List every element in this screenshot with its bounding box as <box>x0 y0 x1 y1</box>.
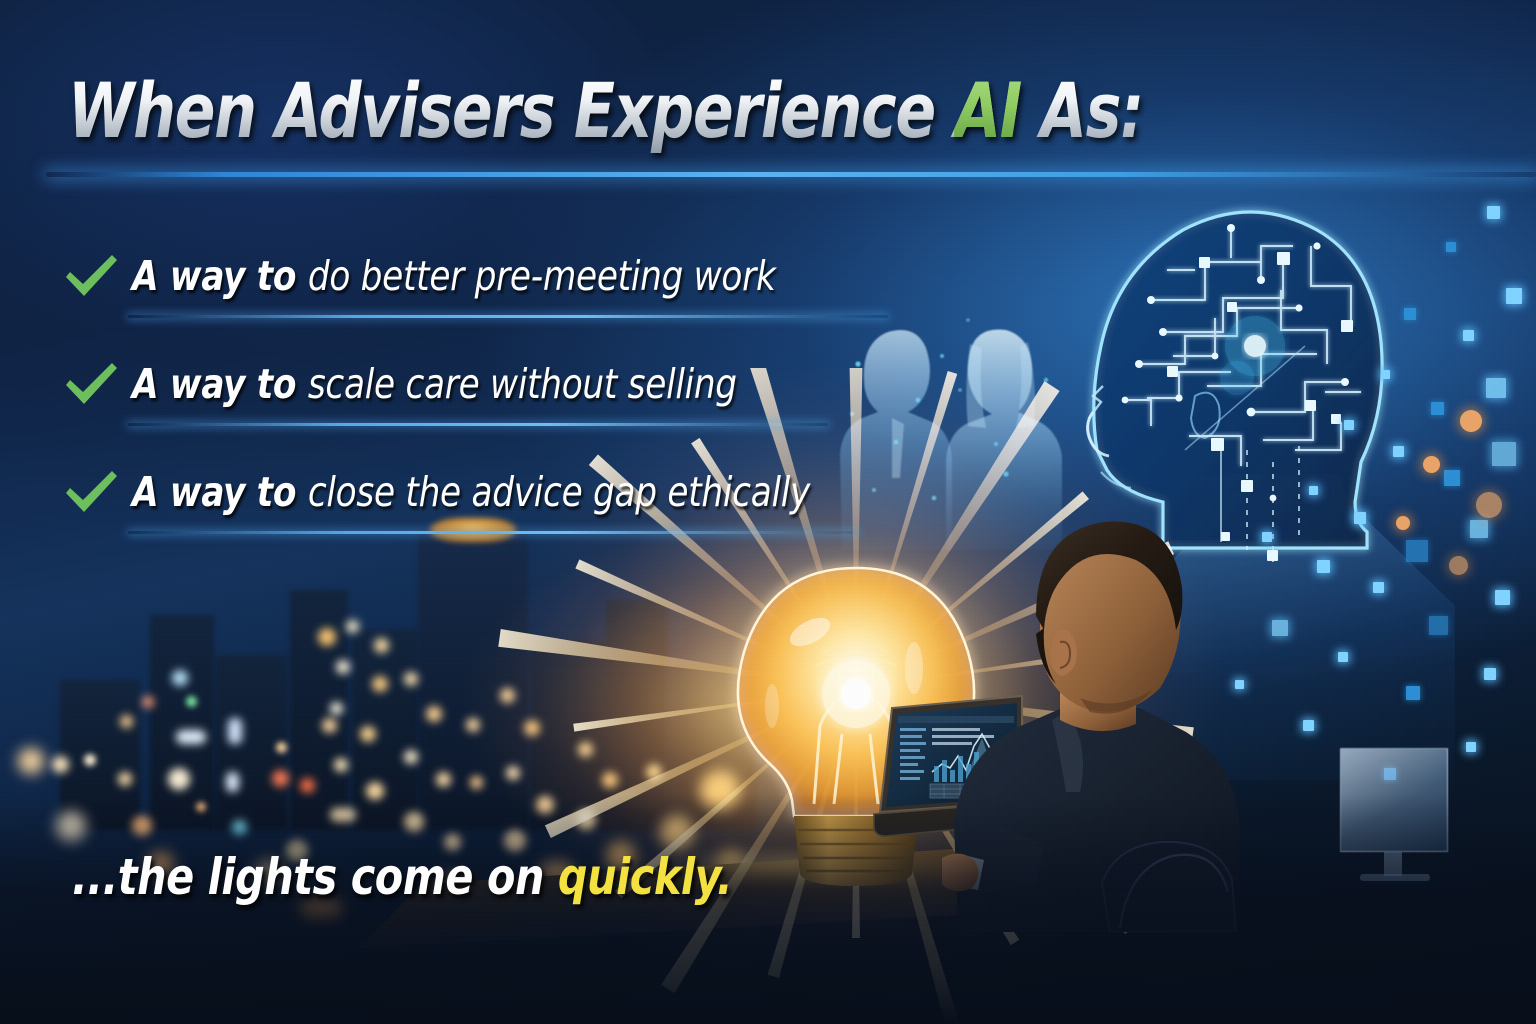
list-item: A way to scale care without selling <box>62 330 861 438</box>
list-item-lead: A way to <box>132 360 308 408</box>
list-item-text: A way to scale care without selling <box>132 360 737 408</box>
list-item: A way to close the advice gap ethically <box>62 438 861 546</box>
tagline-text: ...the lights come on <box>72 848 558 906</box>
title-highlight-ai: AI <box>955 66 1021 155</box>
poster-canvas: When Advisers Experience AI As: A way to… <box>0 0 1536 1024</box>
title-part-1: When Advisers Experience <box>68 66 955 155</box>
page-title: When Advisers Experience AI As: <box>68 66 1143 155</box>
list-item-underline <box>128 315 888 318</box>
list-item-underline <box>128 423 828 426</box>
check-icon <box>62 253 120 299</box>
list-item: A way to do better pre-meeting work <box>62 222 861 330</box>
tagline: ...the lights come on quickly. <box>72 848 732 906</box>
benefit-list: A way to do better pre-meeting work A wa… <box>62 222 861 546</box>
list-item-underline <box>128 531 858 534</box>
list-item-rest: close the advice gap ethically <box>308 468 810 516</box>
title-part-2: As: <box>1021 66 1143 155</box>
list-item-lead: A way to <box>132 468 308 516</box>
list-item-rest: scale care without selling <box>308 360 737 408</box>
list-item-lead: A way to <box>132 252 308 300</box>
list-item-rest: do better pre-meeting work <box>308 252 776 300</box>
title-divider <box>46 172 1536 177</box>
check-icon <box>62 469 120 515</box>
list-item-text: A way to do better pre-meeting work <box>132 252 776 300</box>
list-item-text: A way to close the advice gap ethically <box>132 468 810 516</box>
tagline-highlight: quickly. <box>558 848 732 906</box>
text-overlay: When Advisers Experience AI As: A way to… <box>0 0 1536 1024</box>
check-icon <box>62 361 120 407</box>
